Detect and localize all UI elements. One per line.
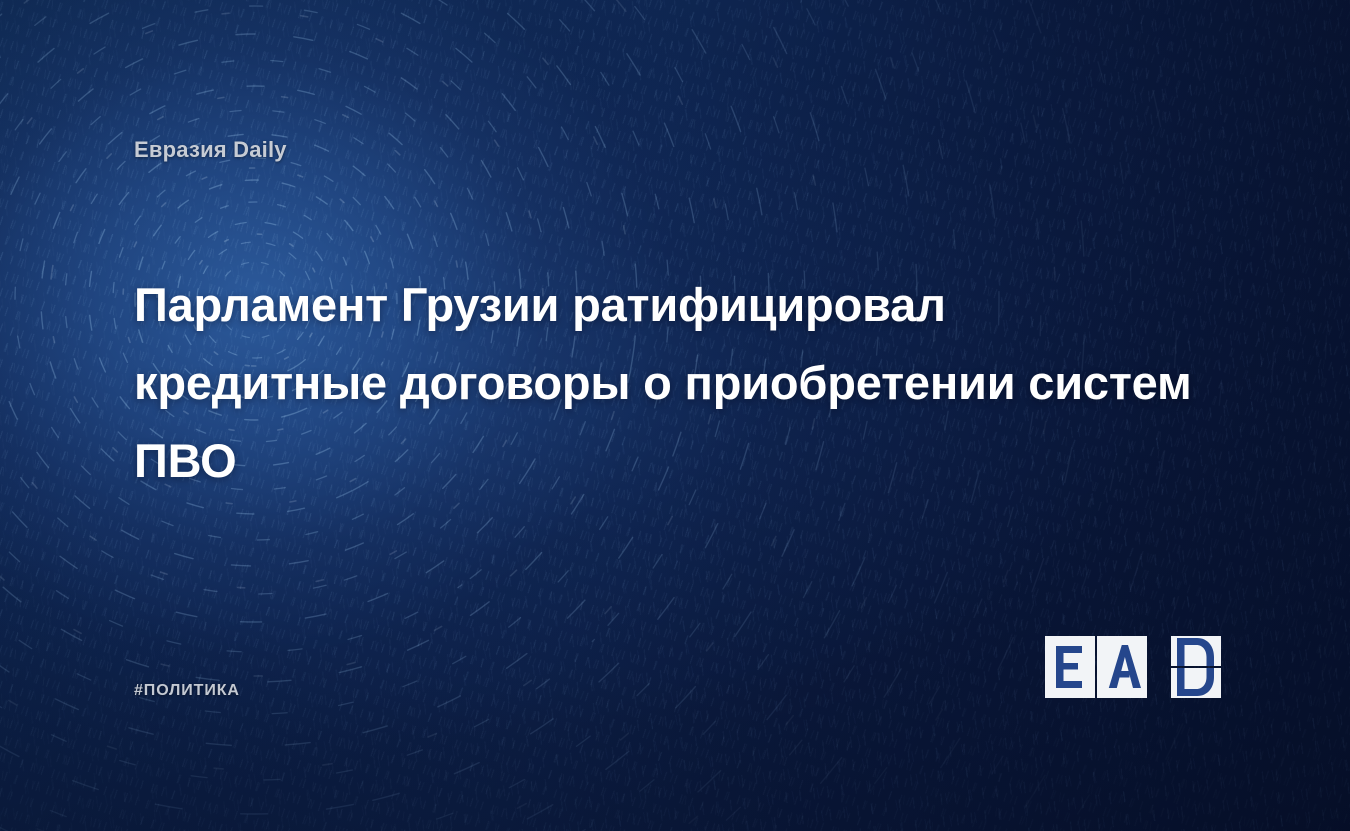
article-share-card: Евразия Daily Парламент Грузии ратифицир… — [0, 0, 1350, 831]
logo-tile-d-top — [1171, 636, 1221, 666]
ead-logo[interactable] — [1045, 636, 1221, 698]
logo-tile-e — [1045, 636, 1095, 698]
category-tag-politics[interactable]: #ПОЛИТИКА — [134, 682, 240, 700]
site-name[interactable]: Евразия Daily — [134, 137, 287, 163]
logo-tile-a — [1097, 636, 1147, 698]
page-title: Парламент Грузии ратифицировал кредитные… — [134, 266, 1194, 500]
logo-tile-d-bottom — [1171, 668, 1221, 698]
logo-tile-d-split — [1171, 636, 1221, 698]
